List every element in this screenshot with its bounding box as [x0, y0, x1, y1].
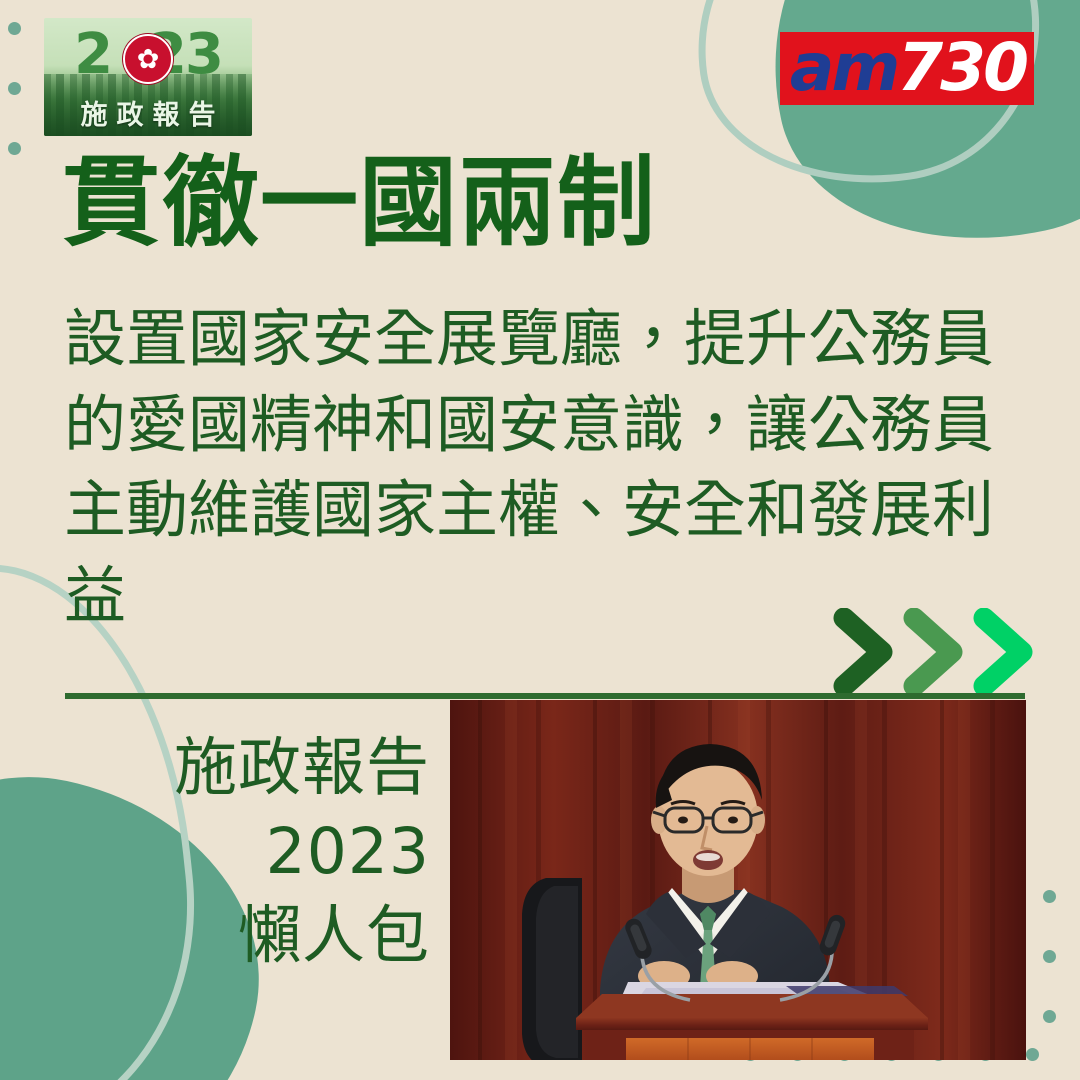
- series-label-line: 懶人包: [110, 894, 430, 978]
- body-line: 設置國家安全展覽廳，提升公務員: [64, 296, 1014, 382]
- series-label: 施政報告 2023 懶人包: [110, 726, 430, 977]
- dot: [1026, 1048, 1039, 1061]
- logo-caption: 施政報告: [44, 93, 252, 132]
- dot: [1043, 1010, 1056, 1023]
- dot: [8, 22, 21, 35]
- photo-illustration: [450, 700, 1026, 1060]
- hong-kong-bauhinia-emblem-icon: ✿: [123, 34, 173, 84]
- chevron-right-icon-1: [830, 608, 898, 696]
- body-paragraph: 設置國家安全展覽廳，提升公務員 的愛國精神和國安意識，讓公務員 主動維護國家主權…: [64, 296, 1014, 638]
- am730-logo-am-text: am: [790, 36, 897, 99]
- body-line: 的愛國精神和國安意識，讓公務員: [64, 382, 1014, 468]
- body-line: 主動維護國家主權、安全和發展利: [64, 467, 1014, 553]
- chevron-right-icon-3: [970, 608, 1038, 696]
- logo-year-digit-4: 3: [185, 22, 222, 87]
- am730-logo-730-text: 730: [897, 36, 1026, 99]
- dot: [8, 142, 21, 155]
- section-divider: [65, 693, 1025, 699]
- chevron-right-icon-2: [900, 608, 968, 696]
- dot: [1043, 890, 1056, 903]
- forward-chevrons-group[interactable]: [830, 608, 1038, 696]
- series-label-line: 施政報告: [110, 726, 430, 810]
- series-label-line: 2023: [110, 810, 430, 894]
- poster-canvas: 2023 ✿ 施政報告 am730 貫徹一國兩制 設置國家安全展覽廳，提升公務員…: [0, 0, 1080, 1080]
- page-title: 貫徹一國兩制: [62, 152, 1022, 255]
- dot: [1043, 950, 1056, 963]
- john-lee-legco-podium-photo: [450, 700, 1026, 1060]
- dot-column-right: [1043, 890, 1056, 1070]
- policy-address-2023-logo: 2023 ✿ 施政報告: [44, 18, 252, 136]
- dot: [8, 82, 21, 95]
- logo-year-digit-1: 2: [74, 22, 111, 87]
- am730-publisher-logo[interactable]: am730: [780, 32, 1034, 105]
